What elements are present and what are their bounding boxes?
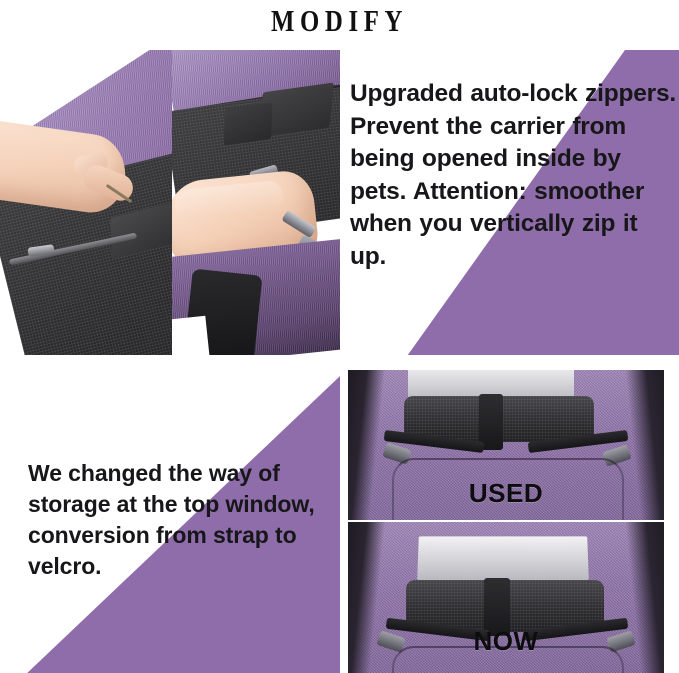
storage-photo-panel: USED NOW <box>348 370 664 673</box>
zipper-photo-panel <box>0 50 340 355</box>
storage-feature-text: We changed the way of storage at the top… <box>28 458 340 582</box>
storage-text-panel: We changed the way of storage at the top… <box>0 370 340 673</box>
label-now: NOW <box>348 626 664 657</box>
zipper-text-panel: Upgraded auto-lock zippers. Prevent the … <box>340 50 679 355</box>
label-used: USED <box>348 478 664 509</box>
zipper-photo-left <box>0 50 172 355</box>
zipper-feature-text: Upgraded auto-lock zippers. Prevent the … <box>350 78 679 273</box>
mesh-flap-lower <box>224 102 273 145</box>
infographic-page: MODIFY <box>0 0 679 673</box>
top-window <box>417 536 589 580</box>
photo-background-gap <box>172 316 210 355</box>
knuckle-highlight <box>172 180 285 221</box>
page-title: MODIFY <box>68 4 611 38</box>
zipper-photo-right <box>172 50 340 355</box>
